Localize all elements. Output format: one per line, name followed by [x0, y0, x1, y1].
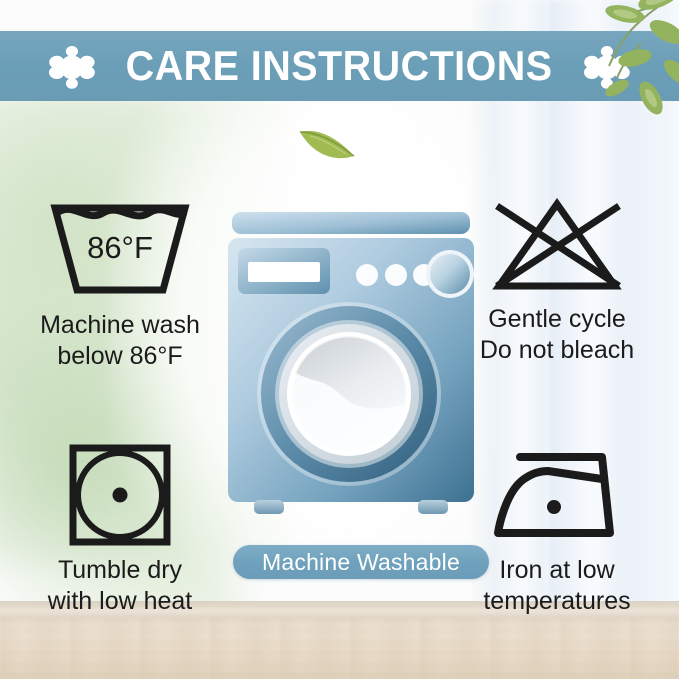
care-symbol-iron-low: Iron at low temperatures — [452, 441, 662, 616]
triangle-crossed-out-icon — [477, 190, 637, 298]
care-symbol-tumble-dry-low: Tumble dry with low heat — [15, 441, 225, 616]
care-instructions-infographic: CARE INSTRUCTIONS — [0, 0, 679, 679]
badge-label: Machine Washable — [262, 549, 460, 576]
header-banner: CARE INSTRUCTIONS — [0, 31, 679, 101]
triangle-crossed-out-icon-wrap — [452, 190, 662, 298]
machine-foot — [418, 500, 448, 514]
care-symbol-machine-wash: 86°F Machine wash below 86°F — [15, 196, 225, 371]
falling-leaf-icon — [296, 122, 360, 162]
wash-tub-icon: 86°F — [45, 198, 195, 302]
wash-temperature-value: 86°F — [87, 230, 153, 265]
machine-button — [385, 264, 407, 286]
machine-washable-badge: Machine Washable — [233, 545, 489, 579]
iron-one-dot-icon-wrap — [452, 441, 662, 549]
fleur-de-lis-icon — [42, 38, 102, 94]
tumble-dry-one-dot-icon-wrap — [15, 441, 225, 549]
care-symbol-do-not-bleach: Gentle cycle Do not bleach — [452, 190, 662, 365]
page-title: CARE INSTRUCTIONS — [126, 45, 553, 87]
iron-one-dot-icon — [490, 449, 624, 541]
machine-foot — [254, 500, 284, 514]
tumble-dry-one-dot-icon — [67, 442, 173, 548]
care-symbol-label: Gentle cycle Do not bleach — [452, 304, 662, 365]
care-symbol-label: Machine wash below 86°F — [15, 310, 225, 371]
washing-machine-illustration — [228, 212, 474, 532]
wash-tub-icon-wrap: 86°F — [15, 196, 225, 304]
wood-grain-texture — [0, 617, 679, 679]
care-symbol-label: Tumble dry with low heat — [15, 555, 225, 616]
machine-button — [356, 264, 378, 286]
fleur-de-lis-icon — [577, 38, 637, 94]
